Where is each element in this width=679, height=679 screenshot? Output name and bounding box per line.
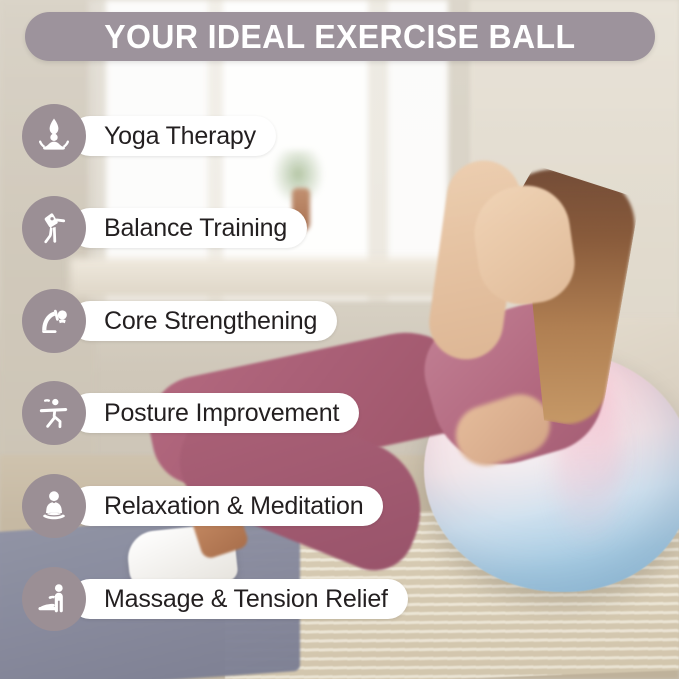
feature-label: Relaxation & Meditation xyxy=(104,492,363,521)
feature-label: Posture Improvement xyxy=(104,399,339,428)
meditation-seated-icon xyxy=(22,474,86,538)
feature-pill-core-strengthening: Core Strengthening xyxy=(70,301,337,341)
feature-row-balance-training[interactable]: Balance Training xyxy=(22,196,307,260)
warrior-posture-icon xyxy=(22,381,86,445)
feature-row-yoga-therapy[interactable]: Yoga Therapy xyxy=(22,104,276,168)
feature-row-massage-tension-relief[interactable]: Massage & Tension Relief xyxy=(22,567,408,631)
feature-pill-posture-improvement: Posture Improvement xyxy=(70,393,359,433)
feature-label: Balance Training xyxy=(104,214,287,243)
feature-label: Yoga Therapy xyxy=(104,122,256,151)
page-title: YOUR IDEAL EXERCISE BALL xyxy=(104,18,575,56)
massage-table-icon xyxy=(22,567,86,631)
feature-pill-yoga-therapy: Yoga Therapy xyxy=(70,116,276,156)
feature-row-posture-improvement[interactable]: Posture Improvement xyxy=(22,381,359,445)
feature-pill-massage-tension-relief: Massage & Tension Relief xyxy=(70,579,408,619)
feature-row-core-strengthening[interactable]: Core Strengthening xyxy=(22,289,337,353)
title-banner: YOUR IDEAL EXERCISE BALL xyxy=(25,12,655,61)
feature-label: Core Strengthening xyxy=(104,307,317,336)
feature-pill-balance-training: Balance Training xyxy=(70,208,307,248)
feature-row-relaxation-meditation[interactable]: Relaxation & Meditation xyxy=(22,474,383,538)
balance-standing-pose-icon xyxy=(22,196,86,260)
feature-label: Massage & Tension Relief xyxy=(104,585,388,614)
product-infographic: YOUR IDEAL EXERCISE BALL Yoga Therapy xyxy=(0,0,679,679)
yoga-lotus-raised-arms-icon xyxy=(22,104,86,168)
feature-pill-relaxation-meditation: Relaxation & Meditation xyxy=(70,486,383,526)
core-crunch-icon xyxy=(22,289,86,353)
